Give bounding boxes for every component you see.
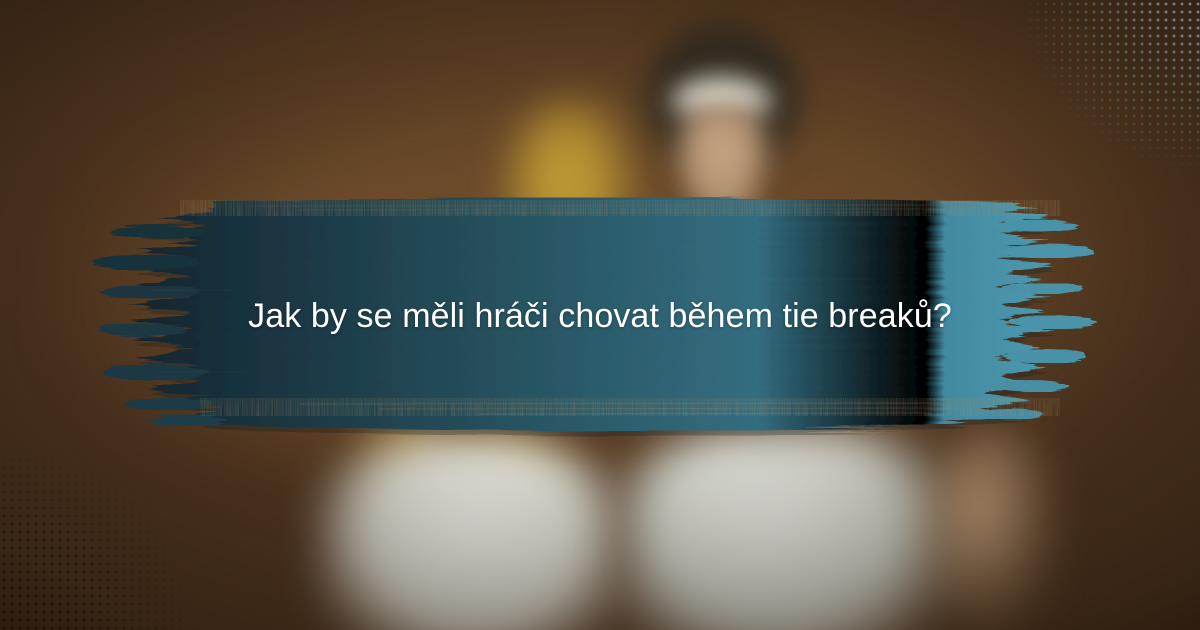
brush-stroke-banner (0, 0, 1200, 630)
share-card: Jak by se měli hráči chovat během tie br… (0, 0, 1200, 630)
brush-stroke-fill (124, 198, 1056, 430)
